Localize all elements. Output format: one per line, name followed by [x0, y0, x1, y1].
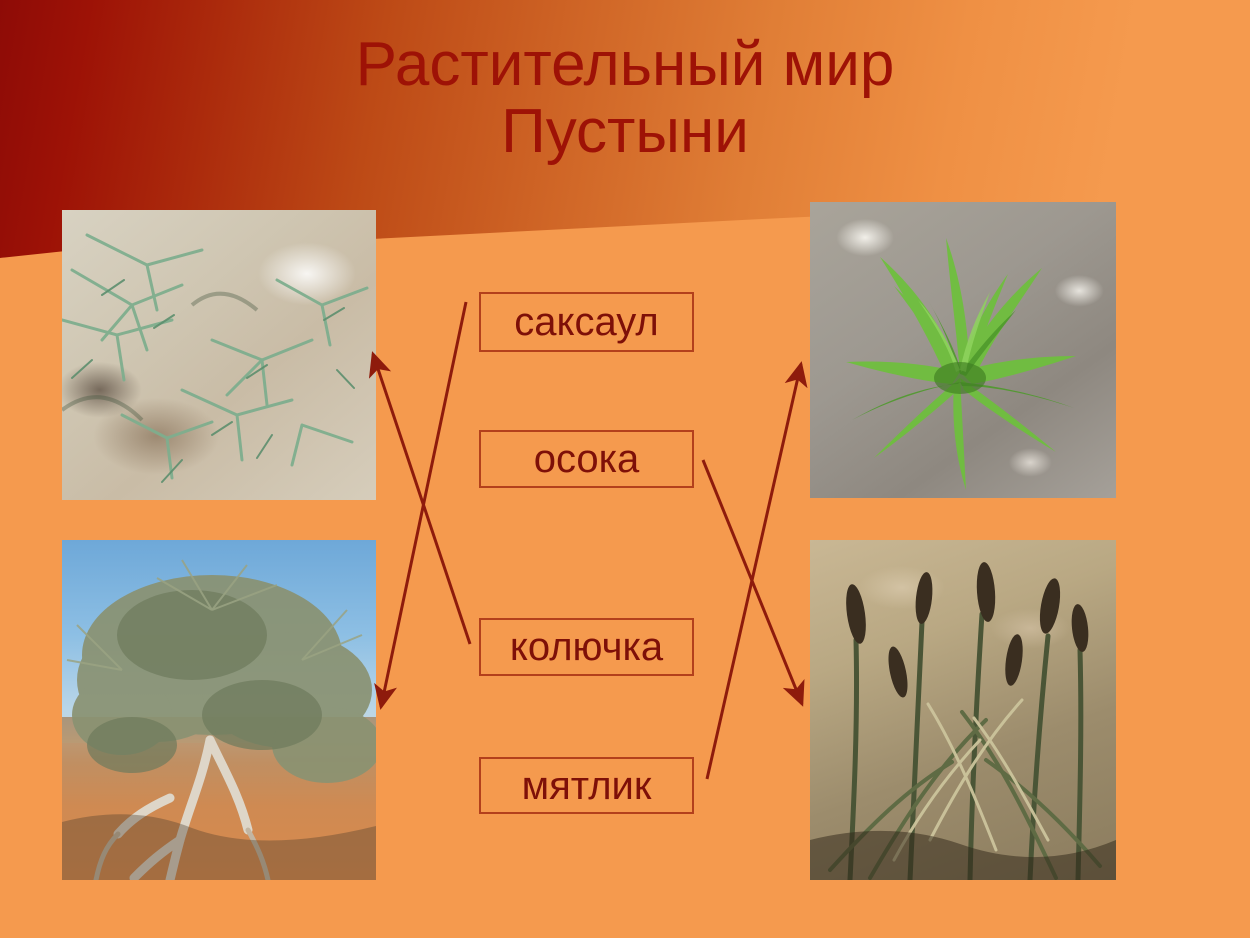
- thorn-plant-illustration: [62, 210, 376, 500]
- page-title: Растительный мир Пустыни: [0, 32, 1250, 166]
- sedge-plant-illustration: [810, 540, 1116, 880]
- photo-top-left-thorn: [62, 210, 376, 500]
- photo-top-right-bluegrass: [810, 202, 1116, 498]
- arrow-kolyuchka-to-thorn: [373, 354, 470, 644]
- slide-canvas: Растительный мир Пустыни: [0, 0, 1250, 938]
- label-box-saksaul[interactable]: саксаул: [479, 292, 694, 352]
- label-box-kolyuchka[interactable]: колючка: [479, 618, 694, 676]
- photo-bottom-left-saxaul-tree: [62, 540, 376, 880]
- bluegrass-tuft-illustration: [810, 202, 1116, 498]
- arrow-myatlik-to-grass: [707, 364, 801, 779]
- arrow-saksaul-to-tree: [381, 302, 466, 707]
- label-box-myatlik[interactable]: мятлик: [479, 757, 694, 814]
- photo-bottom-right-sedge: [810, 540, 1116, 880]
- label-box-osoka[interactable]: осока: [479, 430, 694, 488]
- saxaul-tree-illustration: [62, 540, 376, 880]
- arrow-osoka-to-sedge: [703, 460, 802, 704]
